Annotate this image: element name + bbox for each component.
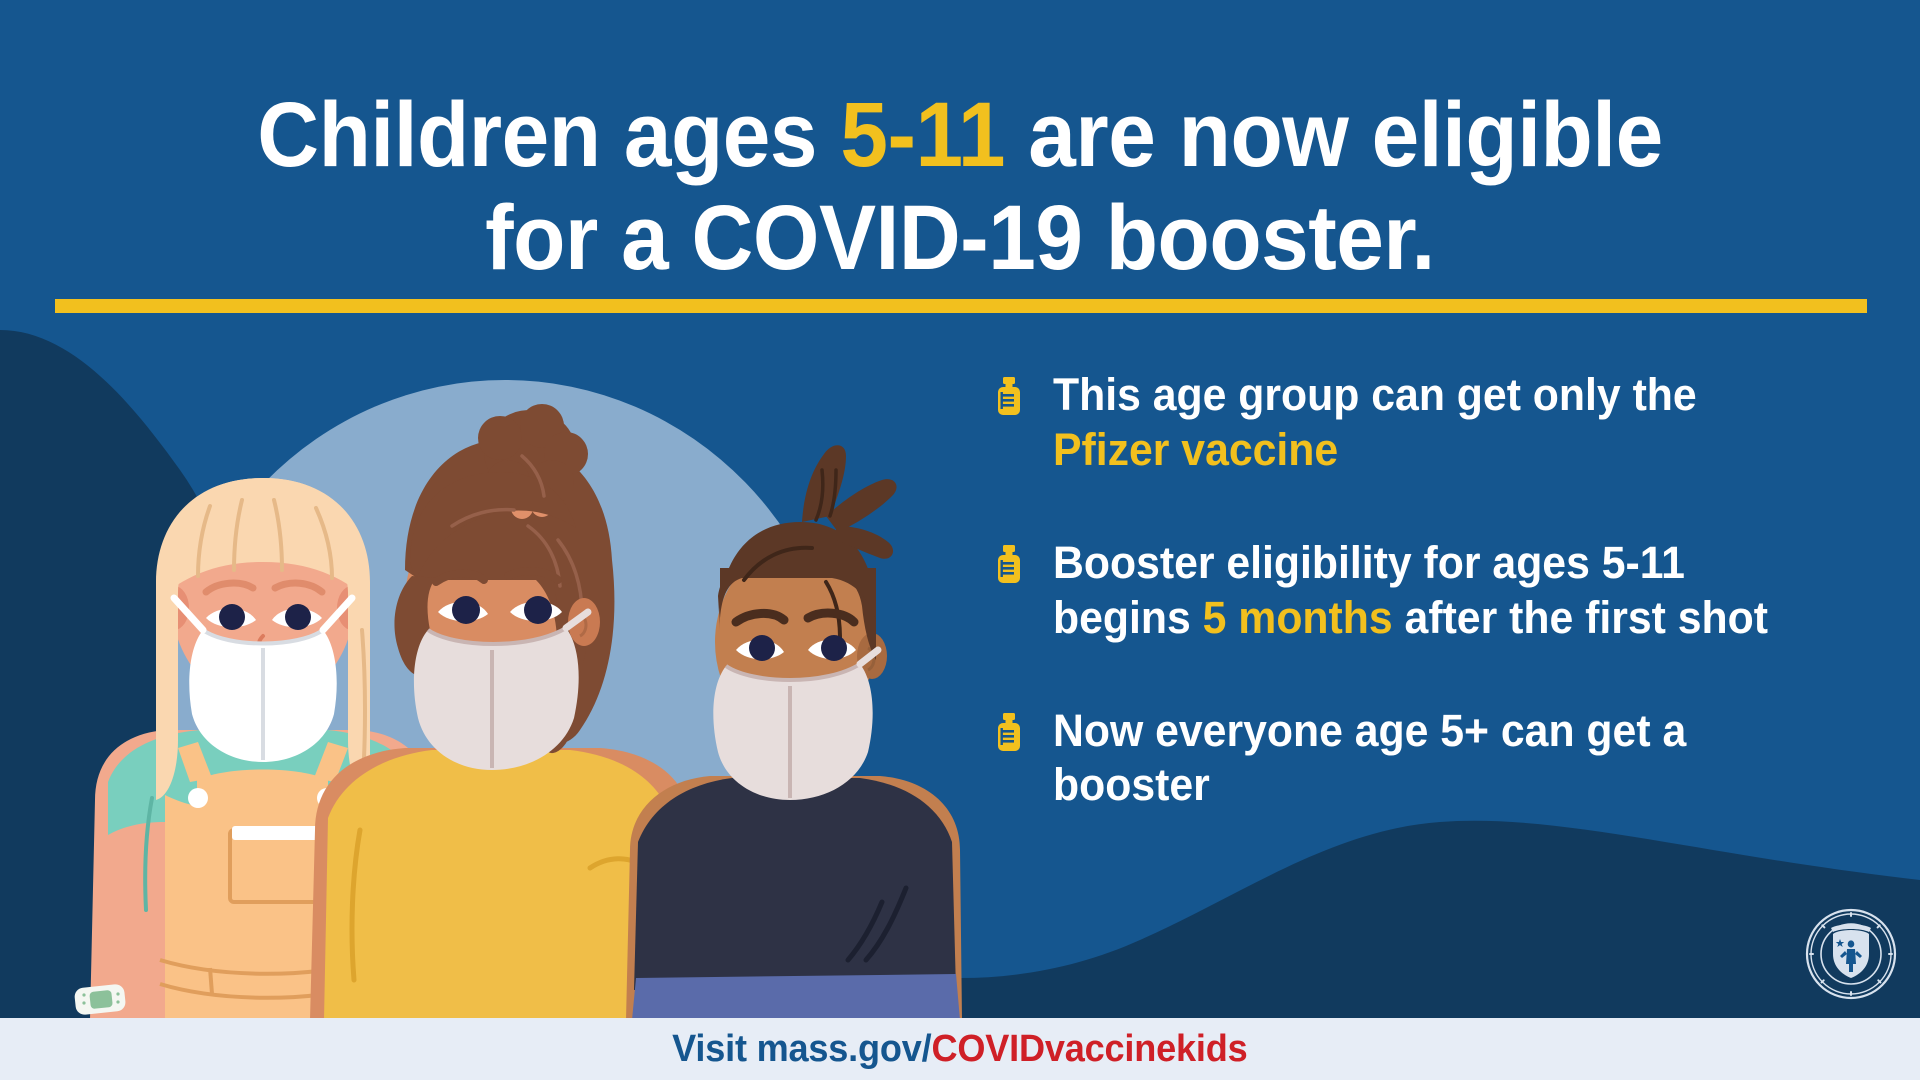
yellow-divider-rule (55, 299, 1867, 313)
list-item: This age group can get only the Pfizer v… (995, 368, 1835, 478)
headline-age-highlight: 5-11 (840, 84, 1005, 186)
child-right (626, 445, 962, 1030)
footer-bar: Visit mass.gov/COVIDvaccinekids (0, 1018, 1920, 1080)
url-accent: COVIDvaccinekids (932, 1028, 1248, 1070)
list-item: Now everyone age 5+ can get a booster (995, 704, 1835, 814)
massachusetts-state-seal (1805, 908, 1897, 1000)
three-masked-children-illustration (60, 330, 1020, 1030)
list-item-text: This age group can get only the Pfizer v… (1053, 368, 1796, 478)
page-title: Children ages 5-11 are now eligiblefor a… (118, 84, 1801, 290)
website-url[interactable]: Visit mass.gov/COVIDvaccinekids (672, 1028, 1247, 1071)
bullet-3-seg-1: Now everyone age 5+ can get a booster (1053, 705, 1686, 811)
headline-line1-before: Children ages (257, 84, 840, 186)
list-item: Booster eligibility for ages 5-11 begins… (995, 536, 1835, 646)
bullet-1-seg-1: This age group can get only the (1053, 369, 1697, 420)
bandage-left-child (74, 983, 127, 1015)
url-prefix: Visit mass.gov/ (672, 1028, 931, 1070)
list-item-text: Booster eligibility for ages 5-11 begins… (1053, 536, 1796, 646)
bullet-2-seg-2: 5 months (1203, 592, 1393, 643)
list-item-text: Now everyone age 5+ can get a booster (1053, 704, 1796, 814)
vaccine-vial-icon (995, 377, 1025, 415)
headline-line2: for a COVID-19 booster. (485, 187, 1435, 289)
headline-line1-after: are now eligible (1005, 84, 1663, 186)
infographic-poster: Children ages 5-11 are now eligiblefor a… (0, 0, 1920, 1080)
bullet-2-seg-3: after the first shot (1393, 592, 1768, 643)
bullet-1-seg-2: Pfizer vaccine (1053, 424, 1338, 475)
vaccine-vial-icon (995, 545, 1025, 583)
vaccine-vial-icon (995, 713, 1025, 751)
key-facts-list: This age group can get only the Pfizer v… (995, 368, 1835, 813)
